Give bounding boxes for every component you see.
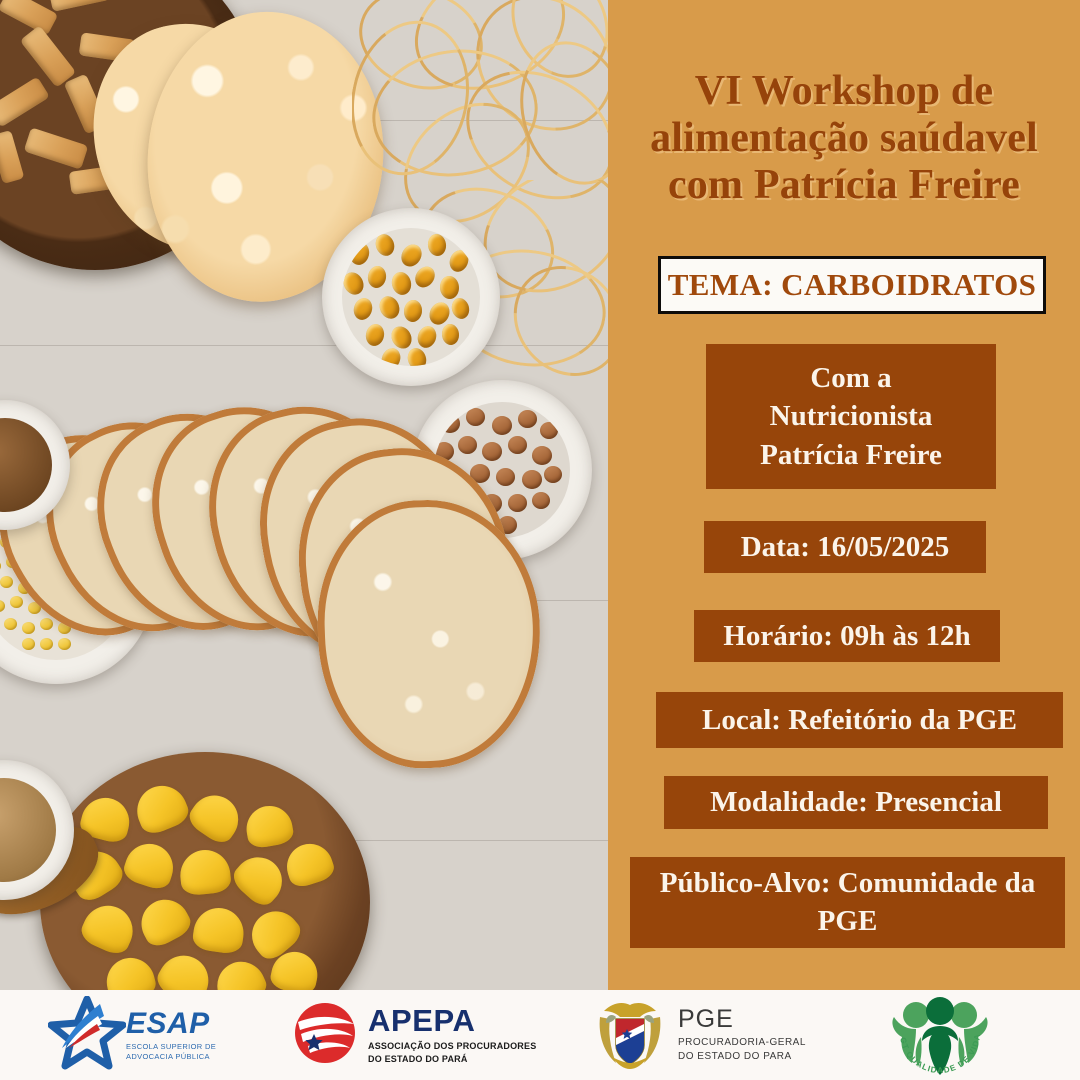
corn-bowl [322,208,500,386]
modality-text: Modalidade: Presencial [710,785,1002,820]
poster-root: VI Workshop de alimentação saúdavel com … [0,0,1080,1080]
esap-text-block: ESAP ESCOLA SUPERIOR DE ADVOCACIA PÚBLIC… [126,1009,216,1062]
audience-box: Público-Alvo: Comunidade daPGE [630,857,1065,948]
apepa-text-block: APEPA ASSOCIAÇÃO DOS PROCURADORES DO EST… [368,1005,536,1064]
time-box: Horário: 09h às 12h [694,610,1000,662]
title-line-3: com Patrícia Freire [608,162,1080,209]
food-photo [0,0,608,990]
speaker-box: Com aNutricionistaPatrícia Freire [706,344,996,489]
logo-pge: PGE PROCURADORIA-GERAL DO ESTADO DO PARA [580,990,870,1080]
date-box: Data: 16/05/2025 [704,521,986,573]
apepa-globe-icon [292,1000,358,1071]
tema-label: TEMA: CARBOIDRATOS [668,267,1037,303]
esap-subtitle: ESCOLA SUPERIOR DE ADVOCACIA PÚBLICA [126,1042,216,1062]
pge-subtitle: PROCURADORIA-GERAL DO ESTADO DO PARA [678,1036,806,1063]
title-line-2: alimentação saúdavel [608,115,1080,162]
pge-acronym: PGE [678,1007,806,1032]
logo-gt-qualidade-vida: GT QUALIDADE DE VIDA NO TRABALHO [870,990,1080,1080]
time-text: Horário: 09h às 12h [723,619,970,654]
location-text: Local: Refeitório da PGE [702,703,1017,738]
speaker-text: Com aNutricionistaPatrícia Freire [760,359,942,474]
esap-acronym: ESAP [126,1009,216,1039]
apepa-subtitle: ASSOCIAÇÃO DOS PROCURADORES DO ESTADO DO… [368,1040,536,1064]
date-text: Data: 16/05/2025 [741,530,950,565]
gt-people-icon: GT QUALIDADE DE VIDA NO TRABALHO [888,993,992,1077]
pge-coat-of-arms-icon [594,995,666,1076]
footer-logo-bar: ESAP ESCOLA SUPERIOR DE ADVOCACIA PÚBLIC… [0,990,1080,1080]
audience-text: Público-Alvo: Comunidade daPGE [650,865,1045,939]
tema-badge: TEMA: CARBOIDRATOS [658,256,1046,314]
modality-box: Modalidade: Presencial [664,776,1048,829]
page-title: VI Workshop de alimentação saúdavel com … [608,68,1080,209]
pge-text-block: PGE PROCURADORIA-GERAL DO ESTADO DO PARA [678,1007,806,1063]
location-box: Local: Refeitório da PGE [656,692,1063,748]
title-line-1: VI Workshop de [608,68,1080,115]
info-panel: VI Workshop de alimentação saúdavel com … [608,0,1080,990]
logo-esap: ESAP ESCOLA SUPERIOR DE ADVOCACIA PÚBLIC… [0,990,280,1080]
esap-star-icon [48,996,126,1075]
logo-apepa: APEPA ASSOCIAÇÃO DOS PROCURADORES DO EST… [280,990,580,1080]
apepa-acronym: APEPA [368,1005,536,1036]
